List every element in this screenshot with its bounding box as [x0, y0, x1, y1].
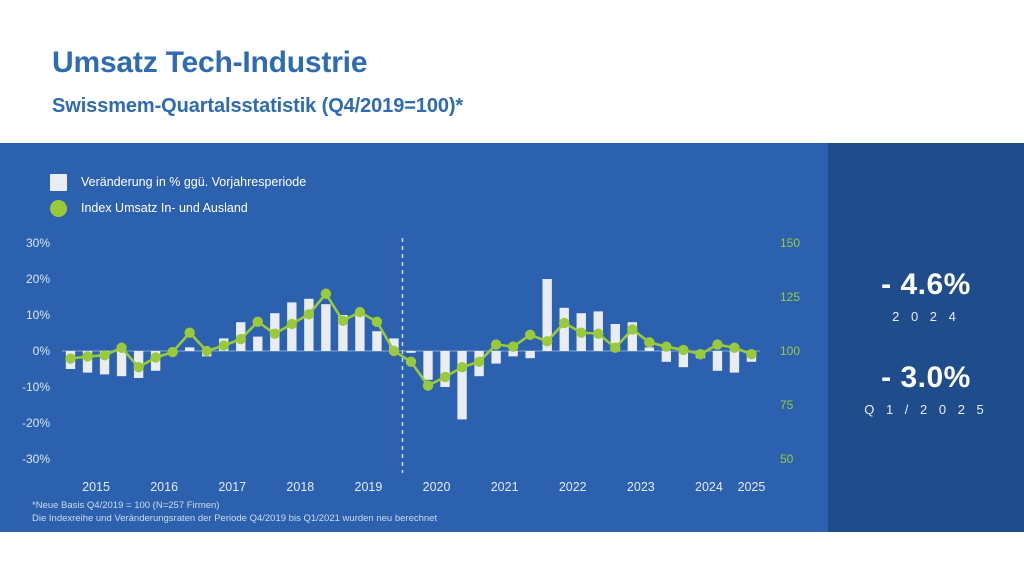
data-point — [253, 317, 263, 327]
y-axis-tick-left: -10% — [22, 380, 50, 394]
header: Umsatz Tech-Industrie Swissmem-Quartalss… — [0, 0, 1024, 143]
x-axis-tick: 2016 — [150, 480, 178, 494]
summary-panel: - 4.6% 2 0 2 4 - 3.0% Q 1 / 2 0 2 5 — [828, 143, 1024, 532]
data-point — [236, 334, 246, 344]
y-axis-tick-right: 75 — [780, 398, 794, 412]
bar — [645, 347, 654, 351]
data-point — [133, 362, 143, 372]
data-point — [99, 350, 109, 360]
data-point — [116, 343, 126, 353]
data-point — [559, 318, 569, 328]
data-point — [270, 329, 280, 339]
data-point — [593, 329, 603, 339]
x-axis-tick: 2018 — [286, 480, 314, 494]
data-point — [184, 327, 194, 337]
y-axis-tick-left: 0% — [33, 344, 51, 358]
data-point — [644, 337, 654, 347]
footnote: *Neue Basis Q4/2019 = 100 (N=257 Firmen)… — [32, 499, 437, 525]
data-point — [542, 336, 552, 346]
data-point — [423, 380, 433, 390]
data-point — [491, 339, 501, 349]
stat-2024: - 4.6% 2 0 2 4 — [828, 268, 1024, 324]
bar — [662, 351, 671, 362]
bar — [491, 351, 500, 364]
bar — [304, 299, 313, 351]
y-axis-tick-right: 125 — [780, 290, 800, 304]
y-axis-tick-left: -30% — [22, 452, 50, 466]
index-markers — [65, 289, 756, 391]
data-point — [389, 346, 399, 356]
x-axis-tick: 2020 — [423, 480, 451, 494]
x-axis-tick: 2015 — [82, 480, 110, 494]
y-axis-tick-right: 100 — [780, 344, 800, 358]
bar — [525, 351, 534, 358]
data-point — [525, 330, 535, 340]
page-title: Umsatz Tech-Industrie — [52, 46, 367, 80]
bar — [253, 337, 262, 351]
data-point — [474, 357, 484, 367]
x-axis-tick: 2024 — [695, 480, 723, 494]
data-point — [406, 357, 416, 367]
data-point — [457, 362, 467, 372]
data-point — [576, 327, 586, 337]
data-point — [508, 341, 518, 351]
stat-q1-2025: - 3.0% Q 1 / 2 0 2 5 — [828, 361, 1024, 417]
stat-q1-2025-period: Q 1 / 2 0 2 5 — [828, 402, 1024, 417]
y-axis-tick-left: 30% — [26, 236, 50, 250]
data-point — [372, 317, 382, 327]
x-axis-tick: 2017 — [218, 480, 246, 494]
y-axis-tick-left: -20% — [22, 416, 50, 430]
x-axis-tick: 2022 — [559, 480, 587, 494]
bar — [730, 351, 739, 373]
data-point — [746, 349, 756, 359]
data-point — [304, 309, 314, 319]
bar — [372, 331, 381, 351]
data-point — [150, 352, 160, 362]
plot-area: 30%20%10%0%-10%-20%-30%15012510075502015… — [0, 143, 828, 532]
data-point — [712, 339, 722, 349]
data-point — [65, 353, 75, 363]
chart-svg: 30%20%10%0%-10%-20%-30%15012510075502015… — [0, 143, 828, 532]
bar — [713, 351, 722, 371]
bar — [423, 351, 432, 380]
bar — [406, 351, 415, 353]
stat-q1-2025-value: - 3.0% — [828, 361, 1024, 395]
data-point — [219, 340, 229, 350]
data-point — [338, 316, 348, 326]
y-axis-tick-left: 10% — [26, 308, 50, 322]
bar — [355, 313, 364, 351]
data-point — [321, 289, 331, 299]
slide: Umsatz Tech-Industrie Swissmem-Quartalss… — [0, 0, 1024, 576]
data-point — [82, 351, 92, 361]
x-axis-tick: 2021 — [491, 480, 519, 494]
bar — [117, 351, 126, 376]
x-axis-tick: 2025 — [738, 480, 766, 494]
bar — [185, 347, 194, 351]
data-point — [287, 319, 297, 329]
bar — [560, 308, 569, 351]
data-point — [355, 307, 365, 317]
x-axis-tick: 2023 — [627, 480, 655, 494]
y-axis-tick-right: 50 — [780, 452, 794, 466]
data-point — [661, 341, 671, 351]
data-point — [627, 324, 637, 334]
bar — [321, 304, 330, 351]
data-point — [695, 349, 705, 359]
stat-2024-period: 2 0 2 4 — [828, 309, 1024, 324]
y-axis-tick-right: 150 — [780, 236, 800, 250]
bar — [457, 351, 466, 419]
data-point — [678, 345, 688, 355]
page-subtitle: Swissmem-Quartalsstatistik (Q4/2019=100)… — [52, 95, 463, 118]
x-axis: 2015201620172018201920202021202220232024… — [82, 480, 765, 494]
data-point — [167, 347, 177, 357]
data-point — [729, 343, 739, 353]
data-point — [202, 346, 212, 356]
x-axis-tick: 2019 — [355, 480, 383, 494]
data-point — [610, 343, 620, 353]
stat-2024-value: - 4.6% — [828, 268, 1024, 302]
y-axis-tick-left: 20% — [26, 272, 50, 286]
data-point — [440, 372, 450, 382]
